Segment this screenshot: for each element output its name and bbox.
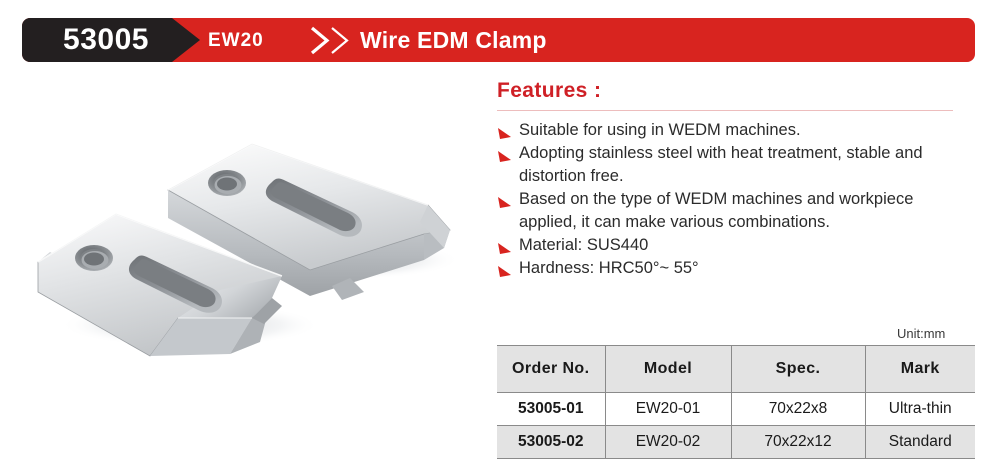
feature-item: Material: SUS440 <box>497 234 955 257</box>
feature-item: Based on the type of WEDM machines and w… <box>497 188 955 234</box>
red-triangle-bullet-icon <box>498 147 511 160</box>
cell-spec: 70x22x8 <box>731 393 865 426</box>
table-row: 53005-01 EW20-01 70x22x8 Ultra-thin <box>497 393 975 426</box>
red-triangle-bullet-icon <box>498 262 511 275</box>
feature-text: Adopting stainless steel with heat treat… <box>519 144 923 185</box>
cell-model: EW20-01 <box>605 393 731 426</box>
features-heading: Features : <box>497 78 955 108</box>
product-code-label: 53005 <box>40 18 172 62</box>
red-triangle-bullet-icon <box>498 239 511 252</box>
feature-item: Suitable for using in WEDM machines. <box>497 119 955 142</box>
specification-table: Order No. Model Spec. Mark 53005-01 EW20… <box>497 345 975 459</box>
cell-mark: Standard <box>865 426 975 459</box>
cell-order-no: 53005-01 <box>497 393 605 426</box>
feature-text: Suitable for using in WEDM machines. <box>519 121 801 139</box>
feature-item: Adopting stainless steel with heat treat… <box>497 142 955 188</box>
double-chevron-right-icon <box>308 25 368 56</box>
column-header-model: Model <box>605 346 731 393</box>
column-header-spec: Spec. <box>731 346 865 393</box>
column-header-mark: Mark <box>865 346 975 393</box>
red-triangle-bullet-icon <box>498 193 511 206</box>
cell-mark: Ultra-thin <box>865 393 975 426</box>
cell-model: EW20-02 <box>605 426 731 459</box>
cell-spec: 70x22x12 <box>731 426 865 459</box>
column-header-order-no: Order No. <box>497 346 605 393</box>
product-photo <box>20 110 480 360</box>
product-model-label: EW20 <box>208 18 264 62</box>
features-section: Features : Suitable for using in WEDM ma… <box>497 78 955 280</box>
cell-order-no: 53005-02 <box>497 426 605 459</box>
page-title: Wire EDM Clamp <box>360 18 547 62</box>
features-divider <box>497 110 953 111</box>
red-triangle-bullet-icon <box>498 124 511 137</box>
feature-item: Hardness: HRC50°~ 55° <box>497 257 955 280</box>
feature-text: Based on the type of WEDM machines and w… <box>519 190 913 231</box>
table-row: 53005-02 EW20-02 70x22x12 Standard <box>497 426 975 459</box>
product-header-bar: 53005 EW20 Wire EDM Clamp <box>22 18 975 62</box>
feature-text: Hardness: HRC50°~ 55° <box>519 259 699 277</box>
feature-text: Material: SUS440 <box>519 236 648 254</box>
unit-label: Unit:mm <box>897 326 945 341</box>
table-header-row: Order No. Model Spec. Mark <box>497 346 975 393</box>
